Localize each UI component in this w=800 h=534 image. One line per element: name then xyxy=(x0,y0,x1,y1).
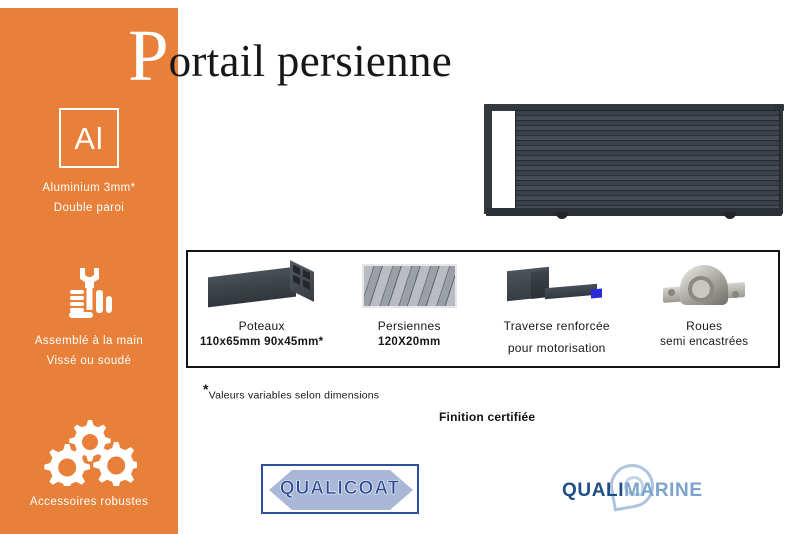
component-traverse: Traverse renforcée pour motorisation xyxy=(483,252,631,366)
sidebar-item-aluminium-line1: Aluminium 3mm* xyxy=(0,178,178,198)
footnote: *Valeurs variables selon dimensions xyxy=(203,381,379,402)
certification-heading: Finition certifiée xyxy=(439,410,535,424)
traverse-motorisation-image xyxy=(505,260,609,312)
gate-left-post xyxy=(484,106,492,214)
slide-root: Al Aluminium 3mm* Double paroi xyxy=(0,0,800,534)
component-persiennes: Persiennes 120X20mm xyxy=(336,252,484,366)
sidebar-item-accessories: Accessoires robustes xyxy=(0,416,178,512)
sidebar-item-aluminium: Al Aluminium 3mm* Double paroi xyxy=(0,108,178,218)
component-persiennes-label: Persiennes xyxy=(378,318,441,334)
qualimarine-logo-text-b: MARINE xyxy=(624,480,703,501)
component-roues-spec: semi encastrées xyxy=(660,334,748,350)
aluminium-badge-icon: Al xyxy=(59,108,119,168)
qualicoat-logo: QUALICOAT xyxy=(261,464,419,514)
sidebar-item-assembly-line2: Vissé ou soudé xyxy=(0,351,178,371)
sidebar-item-assembly-line1: Assemblé à la main xyxy=(0,331,178,351)
sidebar-item-accessories-line1: Accessoires robustes xyxy=(0,492,178,512)
qualicoat-logo-text: QUALICOAT xyxy=(280,478,401,500)
page-title-initial: P xyxy=(128,26,169,86)
component-persiennes-spec: 120X20mm xyxy=(378,334,441,350)
gate-wheel-left xyxy=(556,212,568,219)
gate-wheel-right xyxy=(724,212,736,219)
component-poteaux-spec: 110x65mm 90x45mm* xyxy=(200,334,323,350)
page-title-rest: ortail persienne xyxy=(169,39,452,84)
gate-bottom-rail xyxy=(486,208,782,216)
components-panel: Poteaux 110x65mm 90x45mm* Persiennes 120… xyxy=(186,250,780,368)
component-roues: Roues semi encastrées xyxy=(631,252,779,366)
component-poteaux: Poteaux 110x65mm 90x45mm* xyxy=(188,252,336,366)
footnote-text: Valeurs variables selon dimensions xyxy=(209,390,380,402)
component-traverse-spec: pour motorisation xyxy=(508,340,606,356)
sidebar-item-aluminium-line2: Double paroi xyxy=(0,198,178,218)
aluminium-badge-label: Al xyxy=(74,123,104,154)
hand-wrench-icon xyxy=(0,263,178,325)
page-title: P ortail persienne xyxy=(128,22,452,84)
qualimarine-logo-text: QUALIMARINE xyxy=(562,480,703,502)
portail-persienne-photo xyxy=(470,100,785,220)
component-traverse-label: Traverse renforcée xyxy=(504,318,610,334)
roue-semi-encastree-image xyxy=(663,260,745,312)
gate-louvre-panel xyxy=(515,110,780,209)
sidebar-item-assembly: Assemblé à la main Vissé ou soudé xyxy=(0,263,178,371)
qualimarine-logo: QUALIMARINE xyxy=(562,466,712,512)
persiennes-slats-image xyxy=(362,260,457,312)
qualimarine-logo-text-a: QUALI xyxy=(562,480,624,501)
component-roues-label: Roues xyxy=(686,318,722,334)
component-poteaux-label: Poteaux xyxy=(239,318,285,334)
gears-icon xyxy=(0,416,178,486)
poteau-profile-image xyxy=(208,260,316,312)
